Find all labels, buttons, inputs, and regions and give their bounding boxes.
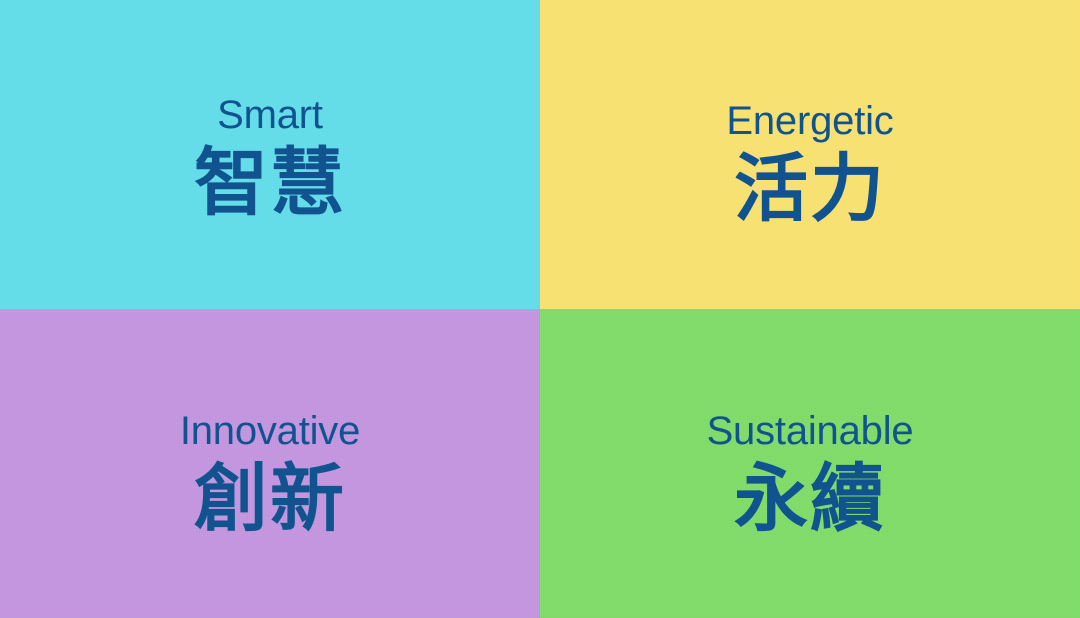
quadrant-innovative-label-en: Innovative xyxy=(180,411,360,451)
quadrant-sustainable[interactable]: Sustainable 永續 xyxy=(540,309,1080,618)
quadrant-energetic-label-zh: 活力 xyxy=(734,152,886,226)
quadrant-innovative-content: Innovative 創新 xyxy=(0,309,540,536)
quadrant-smart-label-en: Smart xyxy=(217,95,323,135)
quadrant-smart-label-zh: 智慧 xyxy=(194,146,346,220)
quadrant-energetic-content: Energetic 活力 xyxy=(540,0,1080,226)
quadrant-sustainable-content: Sustainable 永續 xyxy=(540,309,1080,536)
quadrant-innovative-label-zh: 創新 xyxy=(194,462,346,536)
quadrant-sustainable-label-zh: 永續 xyxy=(734,462,886,536)
quadrant-innovative[interactable]: Innovative 創新 xyxy=(0,309,540,618)
brand-values-grid: Smart 智慧 Energetic 活力 Innovative 創新 Sust… xyxy=(0,0,1080,618)
quadrant-energetic[interactable]: Energetic 活力 xyxy=(540,0,1080,309)
quadrant-energetic-label-en: Energetic xyxy=(726,101,893,141)
quadrant-smart[interactable]: Smart 智慧 xyxy=(0,0,540,309)
quadrant-smart-content: Smart 智慧 xyxy=(0,0,540,220)
quadrant-sustainable-label-en: Sustainable xyxy=(707,411,914,451)
